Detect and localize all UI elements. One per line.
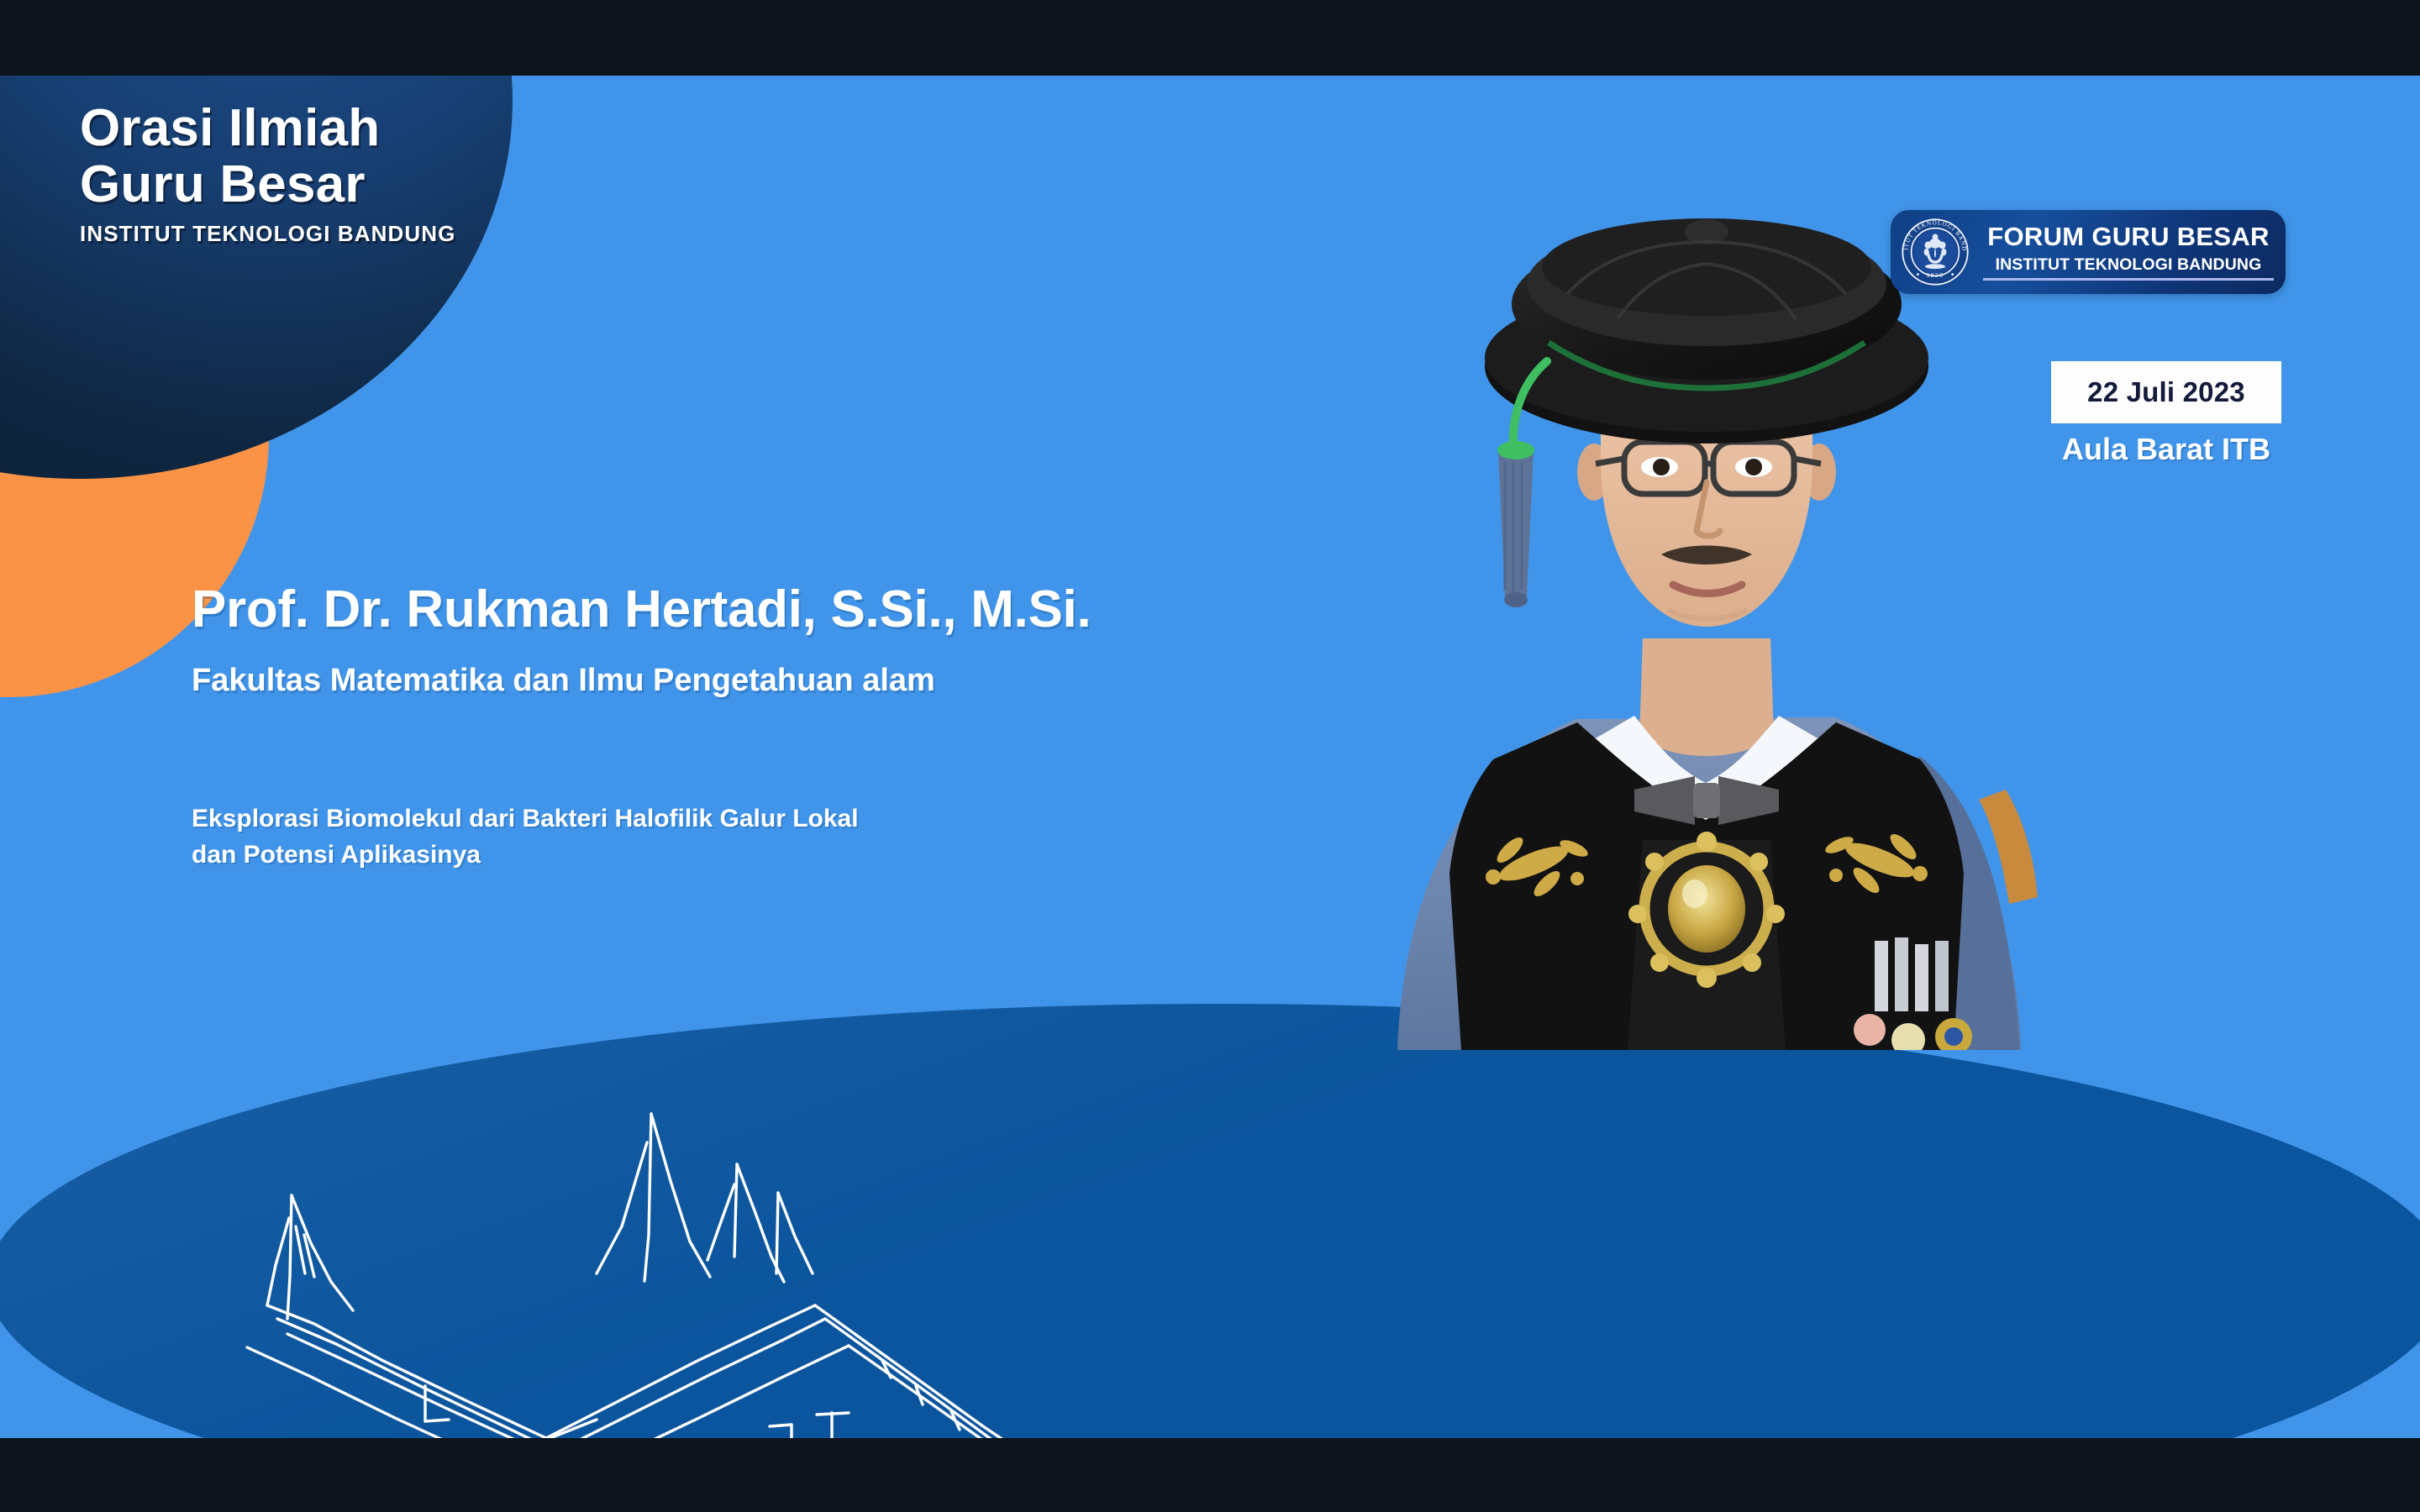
event-brand-lockup: Orasi Ilmiah Guru Besar INSTITUT TEKNOLO… bbox=[80, 101, 455, 247]
speaker-info-block: Prof. Dr. Rukman Hertadi, S.Si., M.Si. F… bbox=[192, 580, 1452, 873]
orasi-ilmiah-poster: Orasi Ilmiah Guru Besar INSTITUT TEKNOLO… bbox=[0, 0, 2420, 1512]
brand-institution: INSTITUT TEKNOLOGI BANDUNG bbox=[80, 221, 455, 247]
speaker-name: Prof. Dr. Rukman Hertadi, S.Si., M.Si. bbox=[192, 580, 1452, 639]
top-letterbox-bar bbox=[0, 0, 2420, 76]
brand-line-1: Orasi Ilmiah bbox=[80, 101, 455, 157]
svg-text:1920: 1920 bbox=[1927, 271, 1944, 279]
bottom-letterbox-bar bbox=[0, 1438, 2420, 1512]
itb-seal-icon: INSTITUT TEKNOLOGI BANDUNG 1920 bbox=[1899, 216, 1971, 288]
event-venue-text: Aula Barat ITB bbox=[2028, 432, 2305, 467]
oration-topic: Eksplorasi Biomolekul dari Bakteri Halof… bbox=[192, 801, 1452, 873]
forum-badge-divider bbox=[1983, 278, 2274, 281]
forum-badge-text: FORUM GURU BESAR INSTITUT TEKNOLOGI BAND… bbox=[1983, 223, 2274, 281]
event-date-text: 22 Juli 2023 bbox=[2087, 376, 2245, 408]
oration-topic-line-1: Eksplorasi Biomolekul dari Bakteri Halof… bbox=[192, 801, 1452, 837]
aula-barat-illustration bbox=[227, 1109, 1252, 1438]
event-date-chip: 22 Juli 2023 bbox=[2051, 361, 2281, 423]
forum-guru-besar-badge: INSTITUT TEKNOLOGI BANDUNG 1920 bbox=[1891, 210, 2286, 294]
forum-badge-title: FORUM GURU BESAR bbox=[1987, 223, 2269, 251]
oration-topic-line-2: dan Potensi Aplikasinya bbox=[192, 837, 1452, 874]
brand-line-2: Guru Besar bbox=[80, 157, 455, 213]
speaker-faculty: Fakultas Matematika dan Ilmu Pengetahuan… bbox=[192, 663, 1452, 699]
forum-badge-subtitle: INSTITUT TEKNOLOGI BANDUNG bbox=[1996, 256, 2262, 274]
poster-stage: Orasi Ilmiah Guru Besar INSTITUT TEKNOLO… bbox=[0, 76, 2420, 1438]
